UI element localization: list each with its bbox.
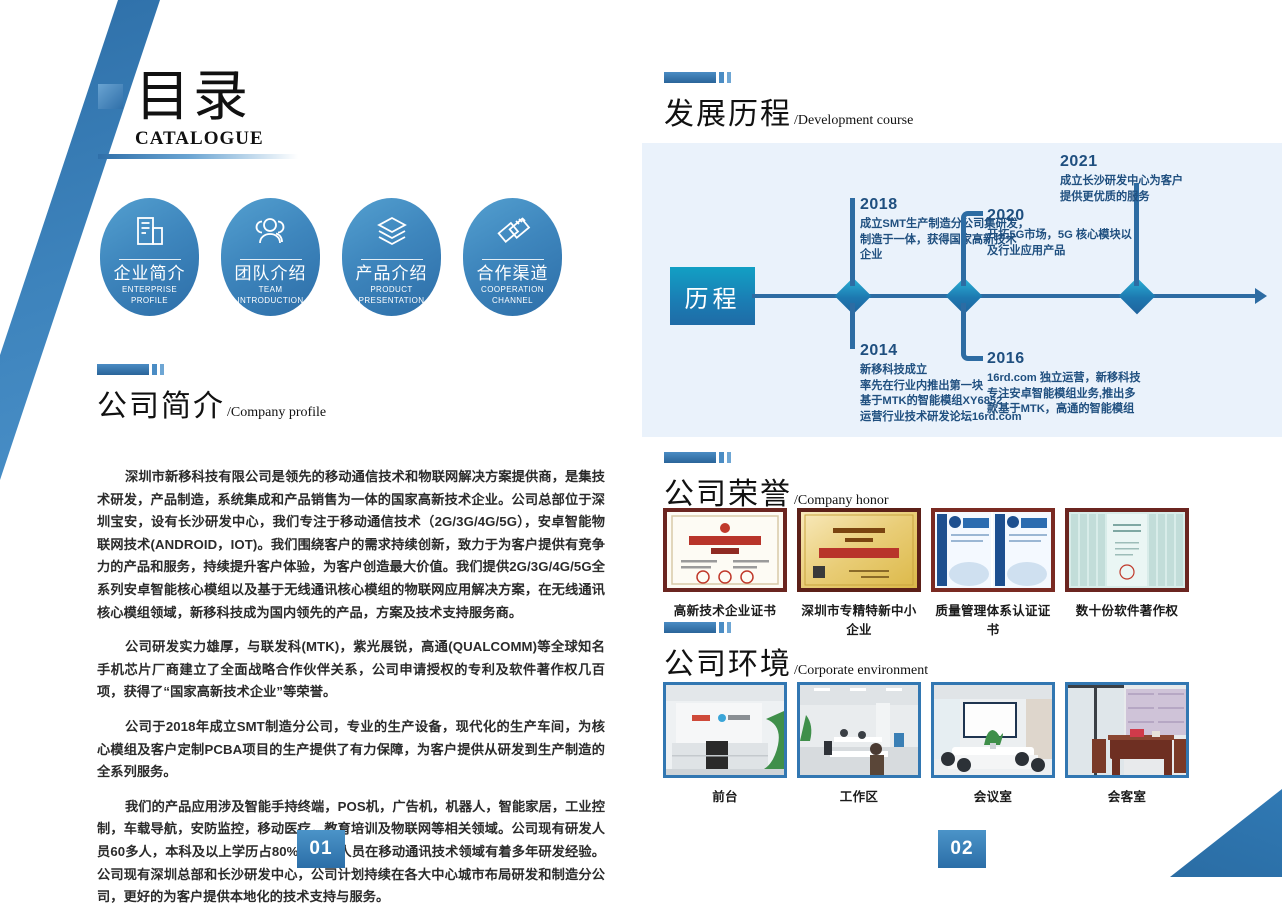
catalogue-square-bullet xyxy=(98,84,123,109)
company-honor-heading-cn: 公司荣誉 xyxy=(664,469,792,513)
bubble-divider xyxy=(240,259,302,260)
timeline-stem xyxy=(850,303,855,349)
timeline-hook-2016 xyxy=(961,339,983,361)
bubble-label-cn: 产品介绍 xyxy=(356,263,428,284)
page-number-left: 01 xyxy=(297,830,345,868)
company-profile-heading-en: /Company profile xyxy=(227,405,326,421)
environment-caption: 会议室 xyxy=(931,786,1055,805)
bubble-label-en2: CHANNEL xyxy=(492,296,533,306)
honor-item[interactable]: 质量管理体系认证证书 xyxy=(931,508,1055,638)
bubble-divider xyxy=(482,259,544,260)
environment-item[interactable]: 前台 xyxy=(663,682,787,805)
bubble-divider xyxy=(119,259,181,260)
timeline-arrow-icon xyxy=(1255,288,1267,304)
timeline-panel: 历程 2018 成立SMT生产制造分公司集研发， 制造于一体，获得国家高新技术 … xyxy=(642,143,1282,437)
page-number-right: 02 xyxy=(938,830,986,868)
corporate-environment-heading-en: /Corporate environment xyxy=(794,663,928,679)
bubble-label-en1: TEAM xyxy=(259,285,283,295)
catalogue-title-cn: 目录 xyxy=(135,68,264,126)
bubble-label-cn: 合作渠道 xyxy=(477,263,549,284)
company-profile-heading-cn: 公司简介 xyxy=(97,381,225,425)
bubble-label-en2: PRESENTATION xyxy=(359,296,425,306)
timeline-axis xyxy=(752,294,1257,298)
page-left: 目录 CATALOGUE 企业简介 ENTERPRISE PROFILE xyxy=(0,0,641,877)
honor-item[interactable]: 数十份软件著作权 xyxy=(1065,508,1189,638)
bubble-label-en1: COOPERATION xyxy=(481,285,544,295)
timeline-stem xyxy=(850,198,855,286)
layers-icon xyxy=(372,212,412,252)
bubble-label-en1: ENTERPRISE xyxy=(122,285,177,295)
bubble-divider xyxy=(361,259,423,260)
section-bar-marker xyxy=(664,622,928,633)
bubble-label-en2: INTRODUCTION xyxy=(237,296,303,306)
environment-item[interactable]: 会客室 xyxy=(1065,682,1189,805)
team-icon xyxy=(251,212,291,252)
catalogue-item-cooperation-channel[interactable]: 合作渠道 COOPERATION CHANNEL xyxy=(463,198,562,316)
company-profile-body: 深圳市新移科技有限公司是领先的移动通信技术和物联网解决方案提供商，是集技术研发，… xyxy=(97,466,605,921)
bubble-label-cn: 企业简介 xyxy=(114,263,186,284)
honor-caption: 数十份软件著作权 xyxy=(1065,600,1189,619)
environment-item[interactable]: 工作区 xyxy=(797,682,921,805)
environment-photo-meeting-room xyxy=(931,682,1055,778)
catalogue-item-enterprise-profile[interactable]: 企业简介 ENTERPRISE PROFILE xyxy=(100,198,199,316)
timeline-desc: 16rd.com 独立运营，新移科技 专注安卓智能模组业务,推出多 款基于MTK… xyxy=(987,371,1172,418)
corporate-environment-heading-cn: 公司环境 xyxy=(664,639,792,683)
profile-paragraph: 深圳市新移科技有限公司是领先的移动通信技术和物联网解决方案提供商，是集技术研发，… xyxy=(97,466,605,624)
environment-photo-reception xyxy=(663,682,787,778)
certificate-thumbnail xyxy=(663,508,787,592)
catalogue-item-product-presentation[interactable]: 产品介绍 PRODUCT PRESENTATION xyxy=(342,198,441,316)
catalogue-header: 目录 CATALOGUE xyxy=(98,68,298,159)
section-bar-marker xyxy=(97,364,326,375)
corporate-environment-heading: 公司环境 /Corporate environment xyxy=(664,622,928,683)
certificate-thumbnail xyxy=(797,508,921,592)
honor-item[interactable]: 深圳市专精特新中小企业 xyxy=(797,508,921,638)
development-course-heading-cn: 发展历程 xyxy=(664,89,792,133)
honor-item[interactable]: 高新技术企业证书 xyxy=(663,508,787,638)
catalogue-title-en: CATALOGUE xyxy=(135,128,264,150)
corporate-environment-grid: 前台 xyxy=(663,682,1189,805)
environment-caption: 工作区 xyxy=(797,786,921,805)
environment-photo-reception-room xyxy=(1065,682,1189,778)
timeline-desc: 成立长沙研发中心为客户 提供更优质的服务 xyxy=(1060,174,1235,205)
timeline-year: 2016 xyxy=(987,350,1172,368)
company-honor-heading: 公司荣誉 /Company honor xyxy=(664,452,889,513)
honor-caption: 高新技术企业证书 xyxy=(663,600,787,619)
timeline-year: 2021 xyxy=(1060,153,1235,171)
profile-paragraph: 公司研发实力雄厚，与联发科(MTK)，紫光展锐，高通(QUALCOMM)等全球知… xyxy=(97,636,605,704)
timeline-hook-2020 xyxy=(961,211,983,233)
timeline-entry-2016: 2016 16rd.com 独立运营，新移科技 专注安卓智能模组业务,推出多 款… xyxy=(987,350,1172,418)
environment-item[interactable]: 会议室 xyxy=(931,682,1055,805)
building-icon xyxy=(130,212,170,252)
bubble-label-cn: 团队介绍 xyxy=(235,263,307,284)
development-course-heading: 发展历程 /Development course xyxy=(664,72,913,133)
environment-photo-workspace xyxy=(797,682,921,778)
page-right: 发展历程 /Development course 历程 2018 成立SMT生产… xyxy=(641,0,1282,877)
catalogue-underline xyxy=(98,154,298,159)
profile-paragraph: 公司于2018年成立SMT制造分公司，专业的生产设备，现代化的生产车间，为核心模… xyxy=(97,716,605,784)
handshake-icon xyxy=(493,212,533,252)
timeline-entry-2021: 2021 成立长沙研发中心为客户 提供更优质的服务 xyxy=(1060,153,1235,205)
timeline-stem xyxy=(961,231,966,286)
certificate-thumbnail xyxy=(1065,508,1189,592)
catalogue-bubble-list: 企业简介 ENTERPRISE PROFILE 团队介绍 TEAM INTROD… xyxy=(100,198,562,316)
catalogue-item-team-introduction[interactable]: 团队介绍 TEAM INTRODUCTION xyxy=(221,198,320,316)
company-honor-grid: 高新技术企业证书 深圳市专精特新中小企业 xyxy=(663,508,1189,638)
bubble-label-en2: PROFILE xyxy=(131,296,168,306)
company-profile-heading: 公司简介 /Company profile xyxy=(97,364,326,425)
environment-caption: 前台 xyxy=(663,786,787,805)
honor-caption: 质量管理体系认证证书 xyxy=(931,600,1055,638)
certificate-thumbnail xyxy=(931,508,1055,592)
company-honor-heading-en: /Company honor xyxy=(794,493,889,509)
environment-caption: 会客室 xyxy=(1065,786,1189,805)
section-bar-marker xyxy=(664,72,913,83)
profile-paragraph: 我们的产品应用涉及智能手持终端，POS机，广告机，机器人，智能家居，工业控制，车… xyxy=(97,796,605,909)
section-bar-marker xyxy=(664,452,889,463)
development-course-heading-en: /Development course xyxy=(794,113,913,129)
bubble-label-en1: PRODUCT xyxy=(370,285,412,295)
timeline-badge: 历程 xyxy=(670,267,755,325)
